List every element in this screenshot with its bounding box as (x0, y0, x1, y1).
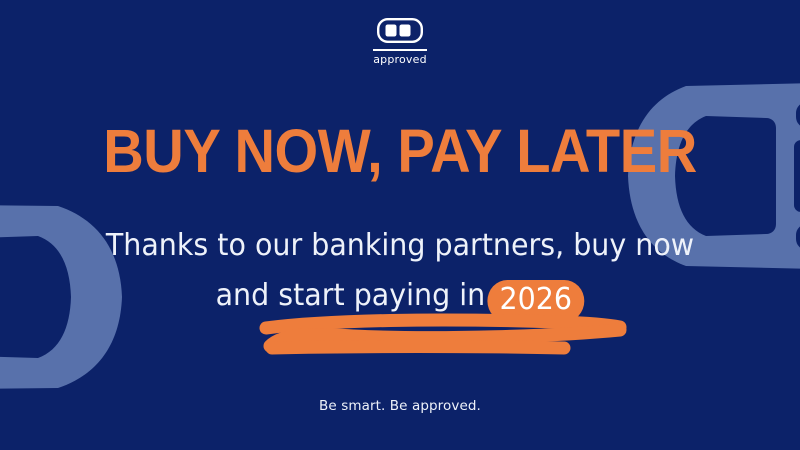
car-top-view-icon (377, 18, 423, 43)
page-title: BUY NOW, PAY LATER (32, 121, 768, 182)
footer-tagline: Be smart. Be approved. (0, 398, 800, 414)
subheadline-line-1: Thanks to our banking partners, buy now (20, 221, 780, 271)
subheadline-line-2-text: and start paying in (216, 278, 486, 313)
subheadline-line-2: and start paying in2026 (20, 271, 780, 322)
year-highlight-badge: 2026 (487, 280, 584, 322)
logo-divider (373, 49, 427, 51)
logo-wordmark: approved (0, 54, 800, 66)
brand-logo: approved (0, 18, 800, 66)
promo-banner: approved BUY NOW, PAY LATER Thanks to ou… (0, 0, 800, 450)
subheadline: Thanks to our banking partners, buy now … (20, 221, 780, 322)
